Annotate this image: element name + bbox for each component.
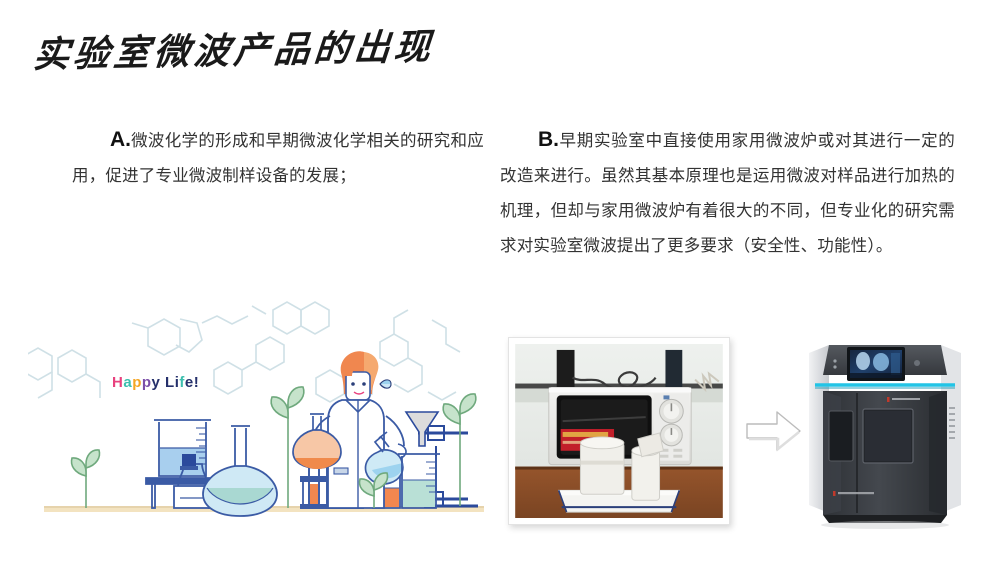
- paragraph-b: B.早期实验室中直接使用家用微波炉或对其进行一定的改造来进行。虽然其基本原理也是…: [500, 122, 955, 264]
- text-column-a: A.微波化学的形成和早期微波化学相关的研究和应用，促进了专业微波制样设备的发展；: [72, 122, 484, 194]
- sprout-plant-right: [443, 394, 476, 506]
- round-bottom-flask: [203, 426, 277, 516]
- chemistry-lab-illustration: [28, 300, 496, 528]
- page-title: 实验室微波产品的出现: [31, 18, 436, 78]
- slide-root: 实验室微波产品的出现 A.微波化学的形成和早期微波化学相关的研究和应用，促进了专…: [0, 0, 1000, 582]
- sprout-plant-left: [72, 450, 100, 508]
- paragraph-b-text: 早期实验室中直接使用家用微波炉或对其进行一定的改造来进行。虽然其基本原理也是运用…: [500, 132, 955, 255]
- tagline-letter: p: [132, 374, 142, 391]
- paragraph-a-text: 微波化学的形成和早期微波化学相关的研究和应用，促进了专业微波制样设备的发展；: [72, 132, 484, 185]
- graduated-beaker-right: [398, 454, 440, 508]
- laboratory-microwave-digestion-system-photo: [795, 335, 975, 530]
- paragraph-a: A.微波化学的形成和早期微波化学相关的研究和应用，促进了专业微波制样设备的发展；: [72, 122, 484, 194]
- tagline-letter: e: [185, 374, 194, 391]
- paragraph-b-marker: B.: [538, 128, 559, 151]
- tagline-letter: H: [112, 374, 123, 391]
- paragraph-a-marker: A.: [110, 128, 131, 151]
- happy-life-tagline: Happy Life!: [112, 374, 199, 391]
- molecule-decorations: [28, 302, 460, 402]
- household-microwave-oven-photo: [508, 337, 730, 525]
- tagline-letter: L: [165, 374, 175, 391]
- tagline-letter: a: [123, 374, 132, 391]
- tagline-letter: !: [194, 374, 200, 391]
- tagline-letter: p: [142, 374, 152, 391]
- tagline-letter: y: [152, 374, 161, 391]
- text-column-b: B.早期实验室中直接使用家用微波炉或对其进行一定的改造来进行。虽然其基本原理也是…: [500, 122, 955, 264]
